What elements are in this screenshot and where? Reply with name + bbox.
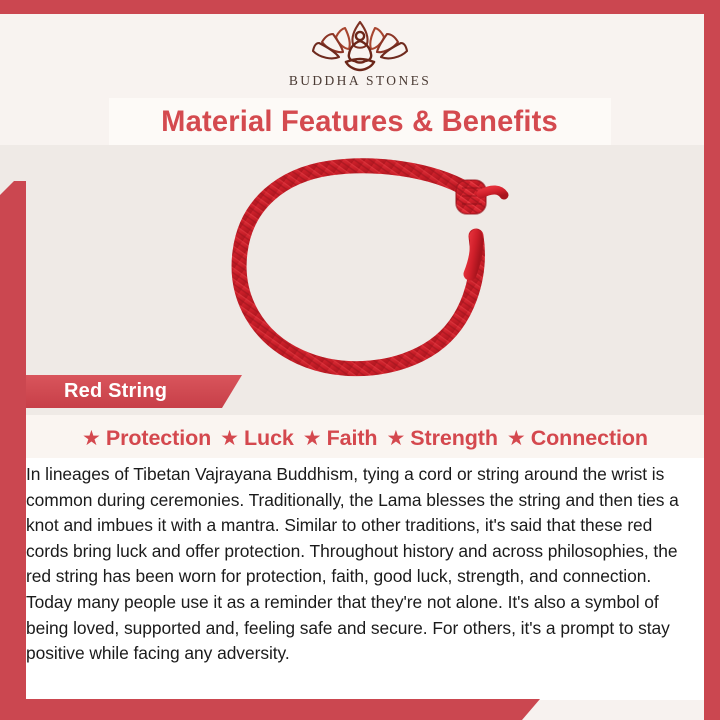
brand-logo: BUDDHA STONES (0, 16, 720, 94)
description-text: In lineages of Tibetan Vajrayana Buddhis… (26, 458, 704, 667)
benefit-item-luck: ★ Luck (220, 426, 294, 451)
decorative-bar-bottom (0, 699, 560, 720)
poster-root: BUDDHA STONES Material Features & Benefi… (0, 0, 720, 720)
decorative-bar-top (0, 0, 720, 14)
benefit-item-strength: ★ Strength (386, 426, 497, 451)
description-panel: In lineages of Tibetan Vajrayana Buddhis… (26, 458, 704, 700)
benefit-label: Luck (244, 426, 294, 451)
star-icon: ★ (507, 428, 526, 449)
benefit-item-connection: ★ Connection (507, 426, 648, 451)
product-name-ribbon: Red String (26, 375, 242, 408)
benefits-list: ★ Protection ★ Luck ★ Faith ★ Strength ★… (26, 419, 704, 457)
page-title: Material Features & Benefits (162, 105, 559, 139)
star-icon: ★ (82, 428, 101, 449)
product-name-label: Red String (64, 380, 167, 403)
benefit-label: Strength (410, 426, 498, 451)
star-icon: ★ (303, 428, 322, 449)
star-icon: ★ (386, 428, 405, 449)
benefit-item-faith: ★ Faith (303, 426, 378, 451)
product-image-red-string-bracelet (0, 148, 720, 378)
benefit-label: Connection (531, 426, 648, 451)
benefit-label: Protection (106, 426, 211, 451)
star-icon: ★ (220, 428, 239, 449)
brand-name: BUDDHA STONES (0, 73, 720, 89)
benefit-item-protection: ★ Protection (82, 426, 211, 451)
page-title-banner: Material Features & Benefits (109, 98, 611, 145)
decorative-bar-right (704, 14, 720, 720)
lotus-meditation-icon (305, 16, 415, 72)
benefit-label: Faith (327, 426, 378, 451)
decorative-bar-left (0, 181, 26, 720)
